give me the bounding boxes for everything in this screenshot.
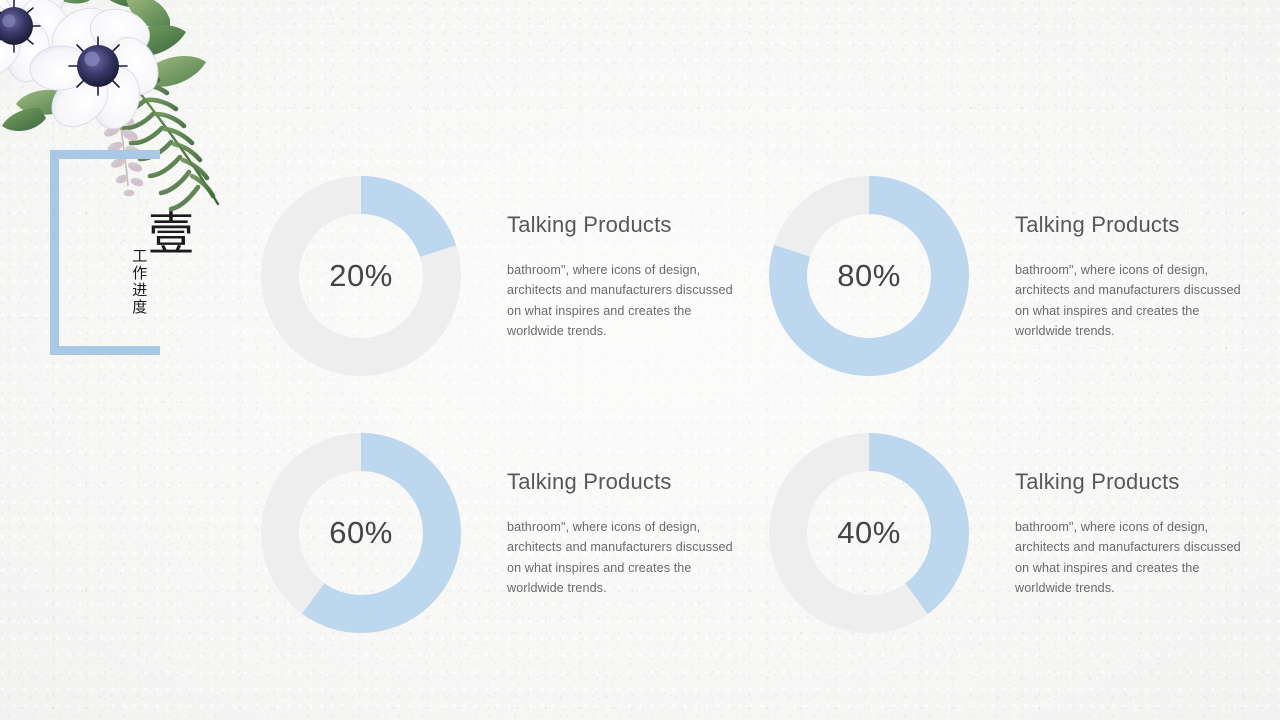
chapter-subtitle: 工作进度 <box>128 248 148 316</box>
stat-title-3: Talking Products <box>507 469 749 495</box>
leaf-cluster <box>0 0 206 131</box>
stat-text-1: Talking Products bathroom", where icons … <box>507 212 749 342</box>
stat-text-2: Talking Products bathroom", where icons … <box>1015 212 1257 342</box>
stat-text-4: Talking Products bathroom", where icons … <box>1015 469 1257 599</box>
stat-body-2: bathroom", where icons of design, archit… <box>1015 260 1257 342</box>
stat-text-3: Talking Products bathroom", where icons … <box>507 469 749 599</box>
donut-value-label-1: 20% <box>261 176 461 376</box>
stat-body-3: bathroom", where icons of design, archit… <box>507 517 749 599</box>
donut-value-label-3: 60% <box>261 433 461 633</box>
stat-item-3[interactable]: 60% Talking Products bathroom", where ic… <box>261 433 751 633</box>
stat-item-1[interactable]: 20% Talking Products bathroom", where ic… <box>261 176 751 376</box>
donut-value-label-4: 40% <box>769 433 969 633</box>
bracket-left-arm <box>50 150 59 355</box>
chapter-numeral: 壹 <box>148 212 194 258</box>
stat-body-4: bathroom", where icons of design, archit… <box>1015 517 1257 599</box>
stat-title-4: Talking Products <box>1015 469 1257 495</box>
bracket-top-arm <box>50 150 160 159</box>
stat-item-2[interactable]: 80% Talking Products bathroom", where ic… <box>769 176 1259 376</box>
stat-title-1: Talking Products <box>507 212 749 238</box>
stat-body-1: bathroom", where icons of design, archit… <box>507 260 749 342</box>
stat-title-2: Talking Products <box>1015 212 1257 238</box>
stat-item-4[interactable]: 40% Talking Products bathroom", where ic… <box>769 433 1259 633</box>
bracket-bottom-arm <box>50 346 160 355</box>
chapter-marker: 壹 工作进度 <box>50 150 170 355</box>
donut-value-label-2: 80% <box>769 176 969 376</box>
anemone-flower-center <box>29 0 168 138</box>
anemone-flower-top-left <box>0 0 81 87</box>
